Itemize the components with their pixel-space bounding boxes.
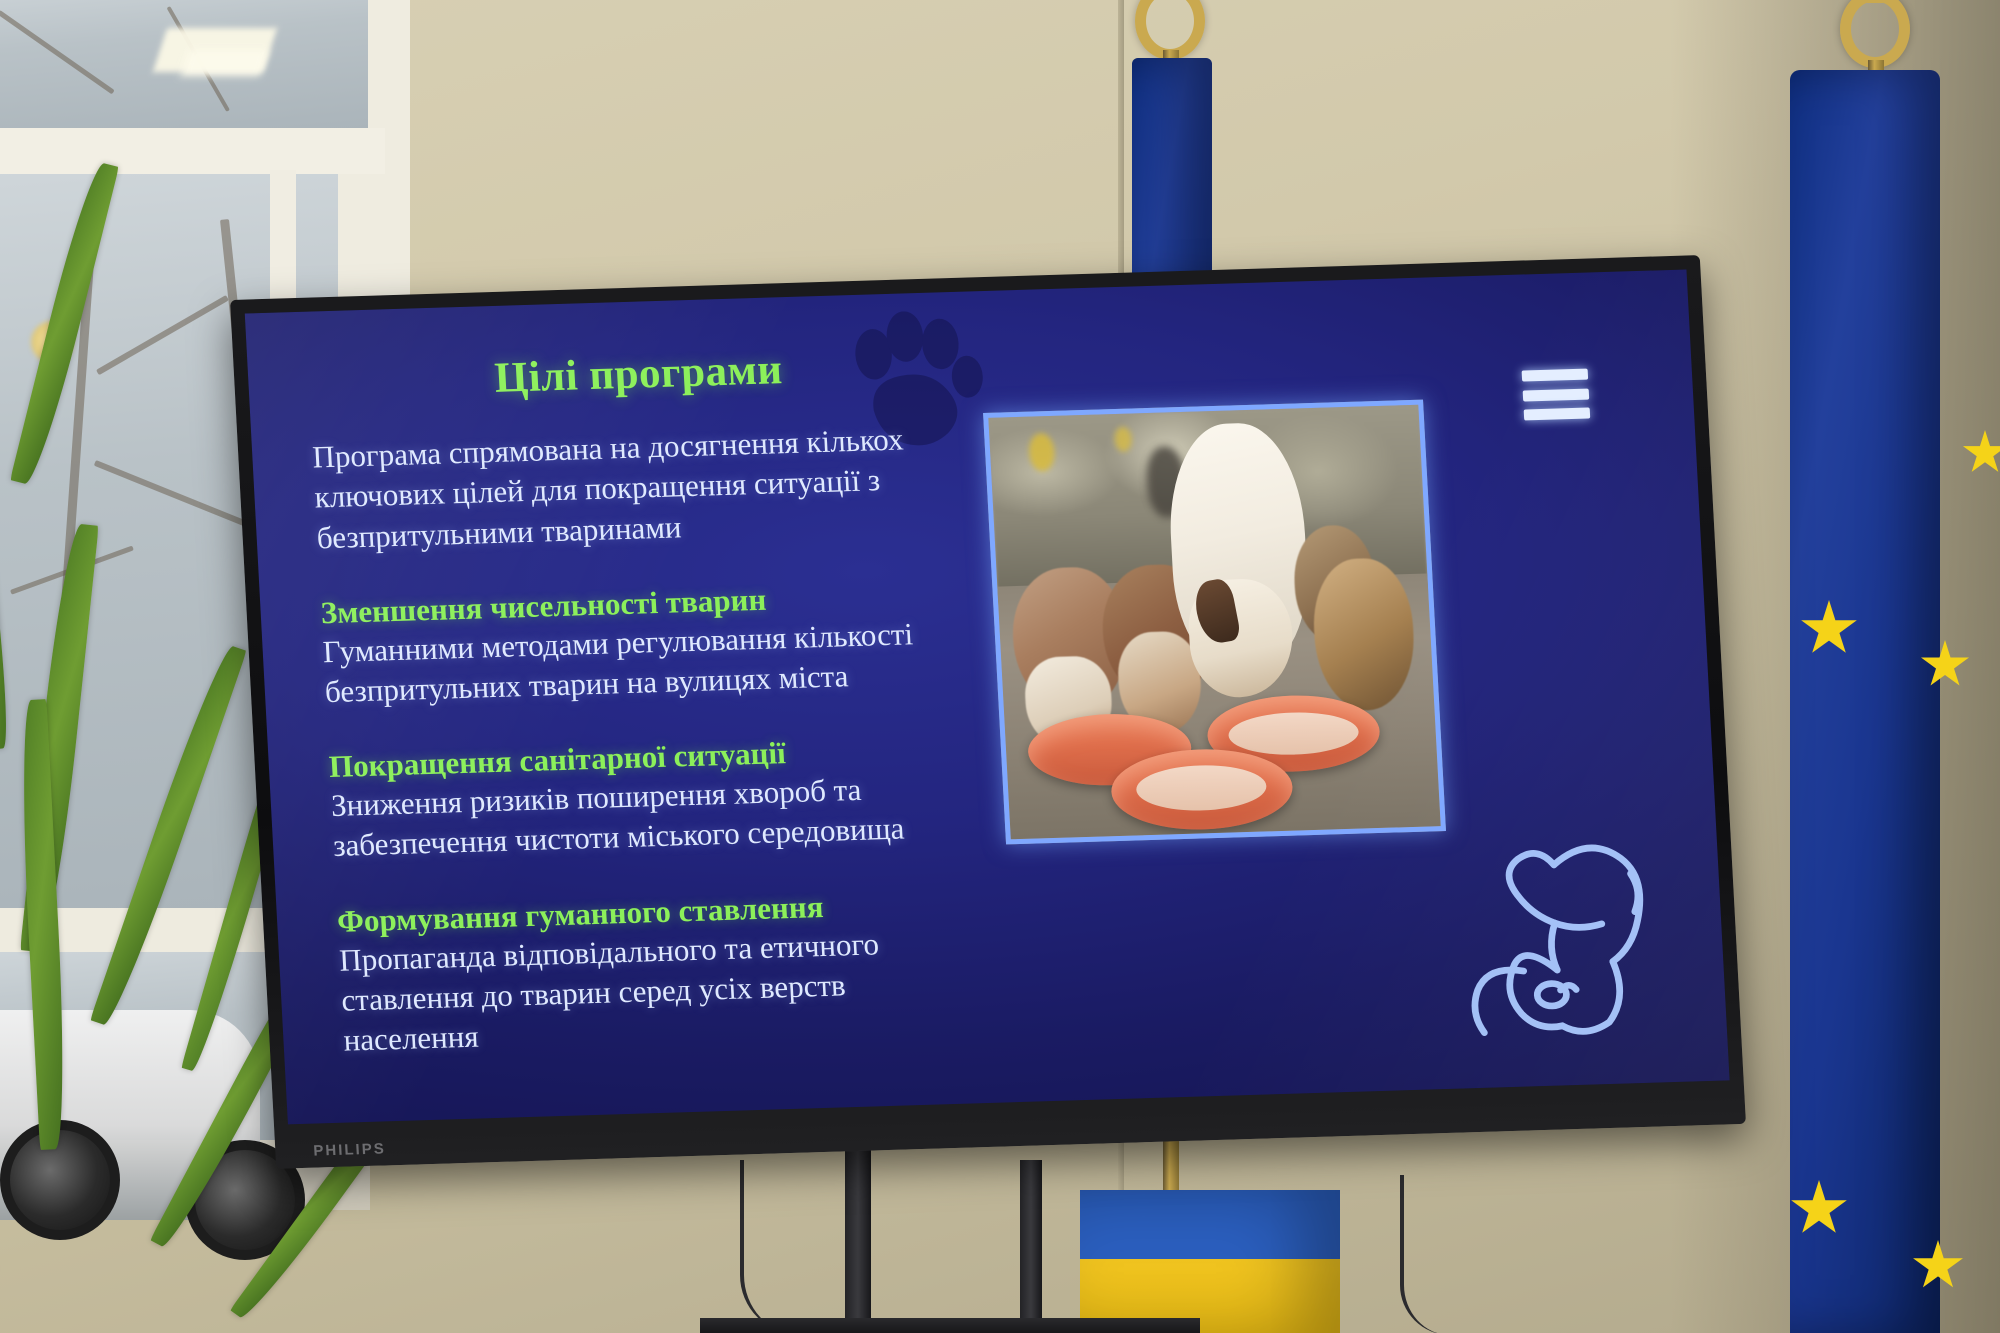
slide-intro-paragraph: Програма спрямована на досягнення кілько… bbox=[311, 419, 937, 559]
ceiling-light-reflection bbox=[181, 50, 269, 76]
dog-line-art-logo bbox=[1417, 803, 1679, 1045]
presentation-slide: Цілі програми Програма спрямована на дос… bbox=[245, 270, 1730, 1125]
eu-flag bbox=[1790, 70, 1940, 1333]
philips-logo: PHILIPS bbox=[313, 1140, 386, 1159]
slide-title: Цілі програми bbox=[357, 341, 919, 407]
hamburger-bar bbox=[1522, 369, 1589, 382]
tv-stand-column bbox=[845, 1150, 871, 1333]
tv-bezel: Цілі програми Програма спрямована на дос… bbox=[230, 255, 1746, 1169]
hamburger-menu-icon[interactable] bbox=[1522, 369, 1591, 421]
hamburger-bar bbox=[1523, 388, 1590, 401]
room-scene: Цілі програми Програма спрямована на дос… bbox=[0, 0, 2000, 1333]
power-cable bbox=[1400, 1175, 1450, 1333]
power-cable bbox=[740, 1160, 800, 1333]
car-wheel bbox=[0, 1120, 120, 1240]
goal-item: Формування гуманного ставлення Пропаганд… bbox=[336, 884, 964, 1061]
ukraine-flag bbox=[1080, 1190, 1340, 1333]
television: Цілі програми Програма спрямована на дос… bbox=[230, 255, 1746, 1169]
bowl-food bbox=[1136, 763, 1268, 812]
window-mullion-horizontal bbox=[0, 128, 385, 174]
goal-item: Покращення санітарної ситуації Зниження … bbox=[328, 729, 954, 866]
bowl-food bbox=[1227, 710, 1360, 756]
goal-body: Пропаганда відповідального та етичного с… bbox=[338, 921, 964, 1061]
tv-stand-base bbox=[700, 1318, 1200, 1333]
tv-screen: Цілі програми Програма спрямована на дос… bbox=[245, 270, 1730, 1125]
hamburger-bar bbox=[1524, 407, 1591, 420]
stray-puppies-eating-photo bbox=[983, 400, 1446, 845]
goal-item: Зменшення чисельності тварин Гуманними м… bbox=[320, 575, 946, 712]
slide-text-column: Програма спрямована на досягнення кілько… bbox=[311, 419, 964, 1061]
tv-stand-column bbox=[1020, 1160, 1042, 1333]
